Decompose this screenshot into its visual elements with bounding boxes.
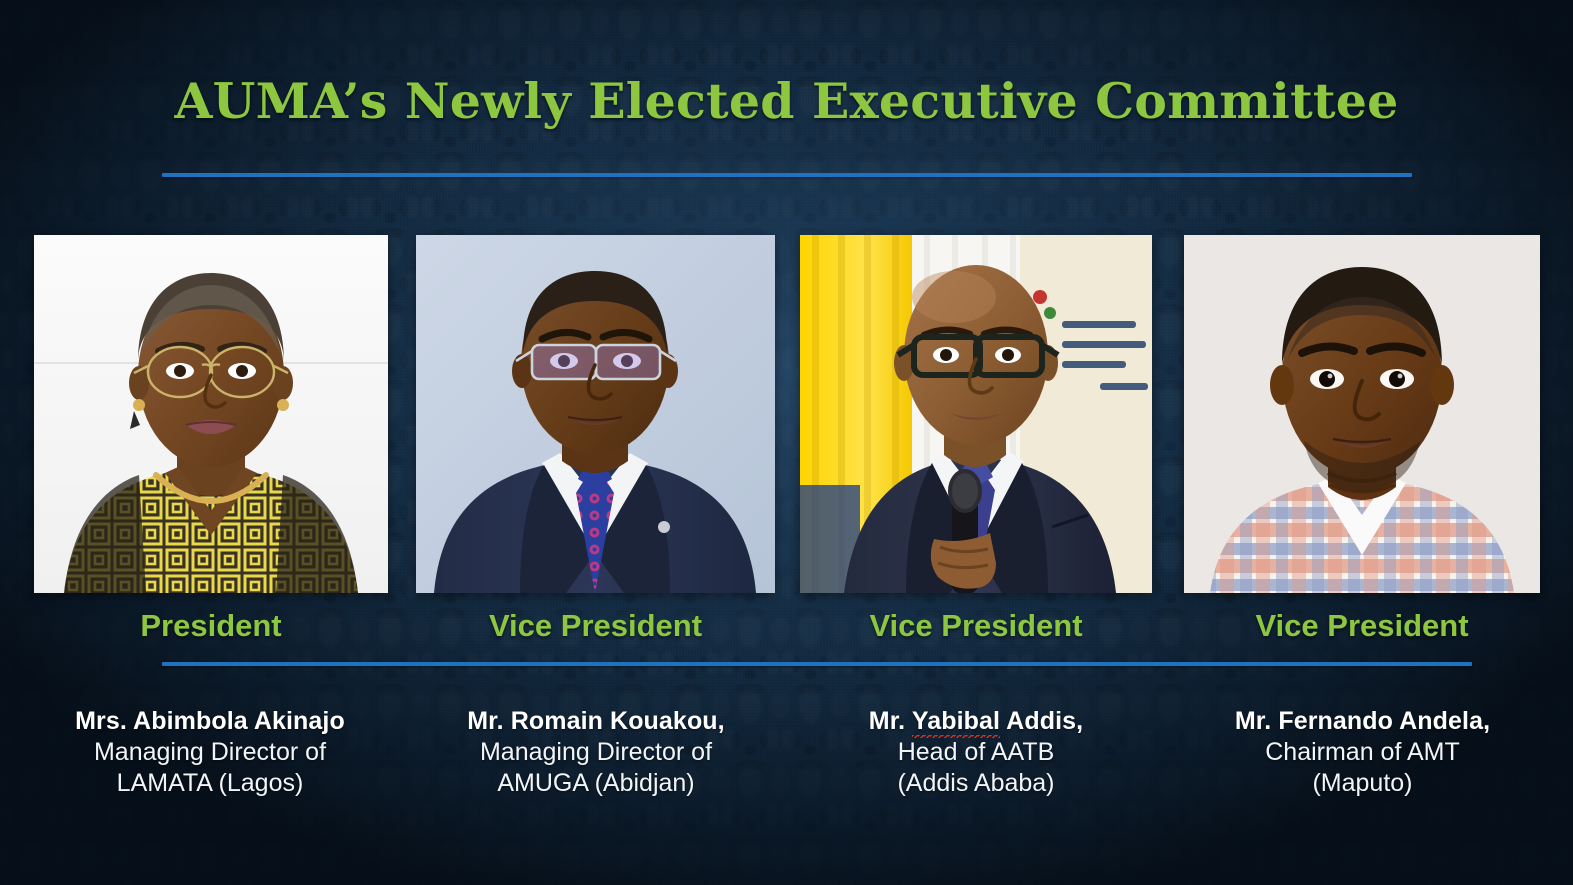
member-name: Mr. Fernando Andela,	[1235, 706, 1490, 737]
member-details-vice-president-3: Mr. Fernando Andela, Chairman of AMT (Ma…	[1170, 706, 1555, 799]
portrait-card-vice-president-1[interactable]	[416, 235, 775, 593]
portrait-row	[0, 235, 1573, 593]
spellcheck-underlined-word: Yabibal	[912, 707, 1000, 738]
portrait-card-vice-president-2[interactable]	[800, 235, 1152, 593]
slide-canvas: AUMA’s Newly Elected Executive Committee	[0, 0, 1573, 885]
member-name-prefix: Mr.	[869, 707, 912, 735]
member-details-vice-president-2: Mr. Yabibal Addis, Head of AATB (Addis A…	[786, 706, 1166, 799]
member-title: Chairman of AMT	[1170, 737, 1555, 768]
portrait-card-president[interactable]	[34, 235, 388, 593]
member-org: (Maputo)	[1170, 768, 1555, 799]
member-name-suffix: Addis,	[1000, 707, 1083, 735]
member-name: Mrs. Abimbola Akinajo	[75, 706, 345, 737]
portrait-image-fernando-andela	[1184, 235, 1540, 593]
member-details-president: Mrs. Abimbola Akinajo Managing Director …	[20, 706, 400, 799]
member-name: Mr. Romain Kouakou,	[467, 706, 724, 737]
role-label-row: President Vice President Vice President …	[0, 608, 1573, 654]
member-org: LAMATA (Lagos)	[20, 768, 400, 799]
member-name: Mr. Yabibal Addis,	[869, 706, 1083, 737]
role-label-vice-president-1: Vice President	[416, 608, 775, 644]
member-org: AMUGA (Abidjan)	[406, 768, 786, 799]
member-details-row: Mrs. Abimbola Akinajo Managing Director …	[0, 706, 1573, 826]
member-details-vice-president-1: Mr. Romain Kouakou, Managing Director of…	[406, 706, 786, 799]
member-title: Head of AATB	[786, 737, 1166, 768]
portrait-card-vice-president-3[interactable]	[1184, 235, 1540, 593]
role-label-president: President	[34, 608, 388, 644]
role-label-vice-president-3: Vice President	[1184, 608, 1540, 644]
member-title: Managing Director of	[20, 737, 400, 768]
divider-rule-bottom	[162, 662, 1472, 666]
role-label-vice-president-2: Vice President	[800, 608, 1152, 644]
portrait-image-romain-kouakou	[416, 235, 775, 593]
portrait-image-yabibal-addis	[800, 235, 1152, 593]
portrait-image-abimbola-akinajo	[34, 235, 388, 593]
member-org: (Addis Ababa)	[786, 768, 1166, 799]
page-title: AUMA’s Newly Elected Executive Committee	[0, 72, 1573, 130]
member-title: Managing Director of	[406, 737, 786, 768]
divider-rule-top	[162, 173, 1412, 177]
